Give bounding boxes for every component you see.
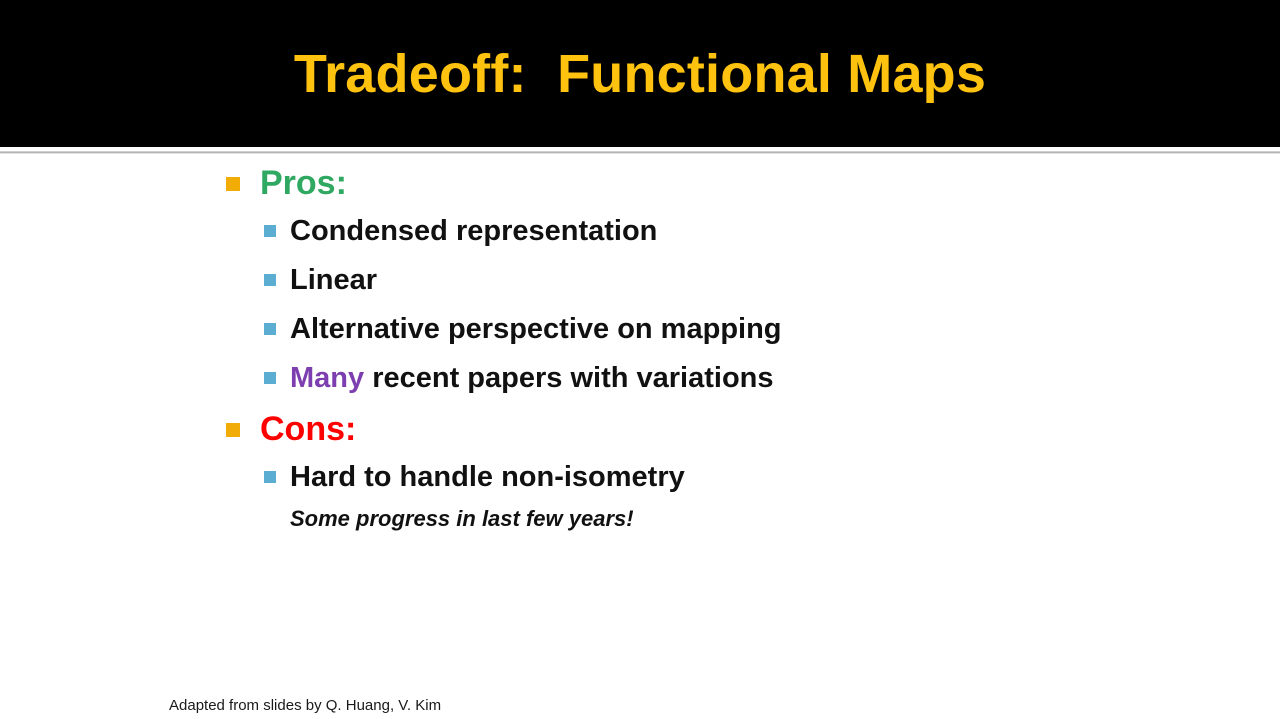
list-item-label: Condensed representation [290, 210, 657, 252]
slide-body: Pros: Condensed representation Linear Al… [0, 160, 1280, 660]
square-bullet-icon [264, 323, 276, 335]
highlighted-word: Many [290, 362, 364, 394]
square-bullet-icon [226, 177, 240, 191]
list-item-rest: recent papers with variations [364, 362, 773, 394]
square-bullet-icon [264, 471, 276, 483]
list-item: Condensed representation [0, 210, 1280, 259]
list-item-label: Linear [290, 259, 377, 301]
square-bullet-icon [264, 274, 276, 286]
list-item: Alternative perspective on mapping [0, 308, 1280, 357]
slide: Tradeoff: Functional Maps Pros: Condense… [0, 0, 1280, 719]
square-bullet-icon [226, 423, 240, 437]
square-bullet-icon [264, 225, 276, 237]
list-item: Many recent papers with variations [0, 357, 1280, 406]
title-divider [0, 151, 1280, 154]
sub-note-label: Some progress in last few years! [290, 506, 634, 531]
list-item: Hard to handle non-isometry [0, 456, 1280, 505]
list-item-label: Hard to handle non-isometry [290, 456, 685, 498]
section-heading-cons: Cons: [0, 406, 1280, 456]
sub-note: Some progress in last few years! [0, 505, 1280, 537]
section-heading-pros: Pros: [0, 160, 1280, 210]
list-item-label: Many recent papers with variations [290, 357, 774, 399]
list-item-label: Alternative perspective on mapping [290, 308, 782, 350]
page-title: Tradeoff: Functional Maps [0, 0, 1280, 147]
footer-attribution: Adapted from slides by Q. Huang, V. Kim [169, 696, 441, 716]
list-item: Linear [0, 259, 1280, 308]
square-bullet-icon [264, 372, 276, 384]
section-label-cons: Cons: [260, 406, 356, 452]
section-label-pros: Pros: [260, 160, 347, 206]
